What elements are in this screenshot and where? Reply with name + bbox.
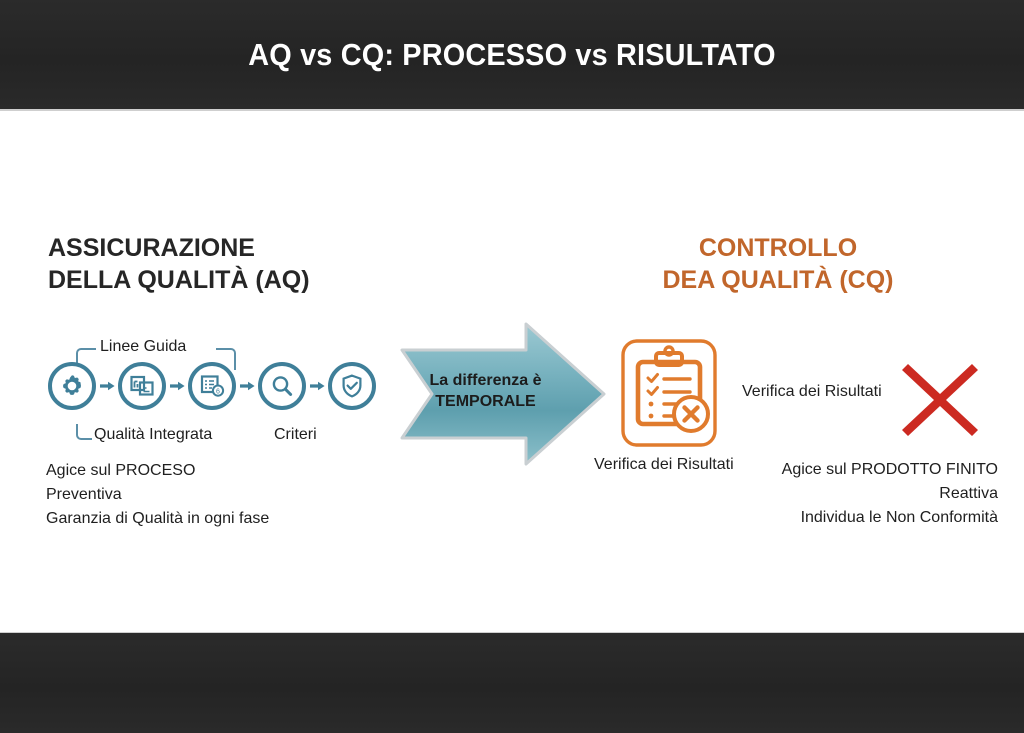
flowchart-icon bbox=[129, 373, 155, 399]
chain-label-linee-guida: Linee Guida bbox=[100, 338, 186, 356]
chain-arrow-2 bbox=[170, 381, 185, 391]
chain-label-qualita-integrata: Qualità Integrata bbox=[94, 426, 212, 444]
chain-node-shield[interactable] bbox=[328, 362, 376, 410]
chain-label-criteri: Criteri bbox=[274, 426, 317, 444]
chain-arrow-3 bbox=[240, 381, 255, 391]
gear-icon bbox=[58, 372, 86, 400]
red-x-icon bbox=[898, 358, 982, 442]
document-badge-icon: 6 bbox=[199, 373, 225, 399]
chain-node-gear[interactable] bbox=[48, 362, 96, 410]
caption-verifica-risultati-below: Verifica dei Risultati bbox=[594, 456, 734, 474]
page-title: AQ vs CQ: PROCESSO vs RISULTATO bbox=[36, 0, 988, 110]
clipboard-checklist-x-icon[interactable] bbox=[620, 338, 718, 448]
bracket-top-left bbox=[76, 348, 96, 364]
chain-node-magnifier[interactable] bbox=[258, 362, 306, 410]
chain-arrow-1 bbox=[100, 381, 115, 391]
arrow-label: La differenza è TEMPORALE bbox=[398, 370, 573, 412]
body-text-aq: Agice sul PROCESO Preventiva Garanzia di… bbox=[46, 459, 269, 531]
chain-arrow-4 bbox=[310, 381, 325, 391]
chain-node-document[interactable]: 6 bbox=[188, 362, 236, 410]
bracket-bottom-left bbox=[76, 424, 92, 440]
body-text-cq: Agice sul PRODOTTO FINITO Reattiva Indiv… bbox=[782, 458, 998, 530]
bottom-band bbox=[0, 633, 1024, 733]
caption-verifica-risultati-right: Verifica dei Risultati bbox=[742, 383, 882, 401]
shield-check-icon bbox=[339, 373, 365, 399]
heading-controllo-qualita: CONTROLLO DEA QUALITÀ (CQ) bbox=[568, 232, 988, 296]
chain-node-flowchart[interactable] bbox=[118, 362, 166, 410]
slide-canvas: AQ vs CQ: PROCESSO vs RISULTATO ASSICURA… bbox=[0, 0, 1024, 733]
magnifier-icon bbox=[269, 373, 295, 399]
svg-text:6: 6 bbox=[216, 388, 220, 395]
heading-assicurazione-qualita: ASSICURAZIONE DELLA QUALITÀ (AQ) bbox=[48, 232, 310, 296]
